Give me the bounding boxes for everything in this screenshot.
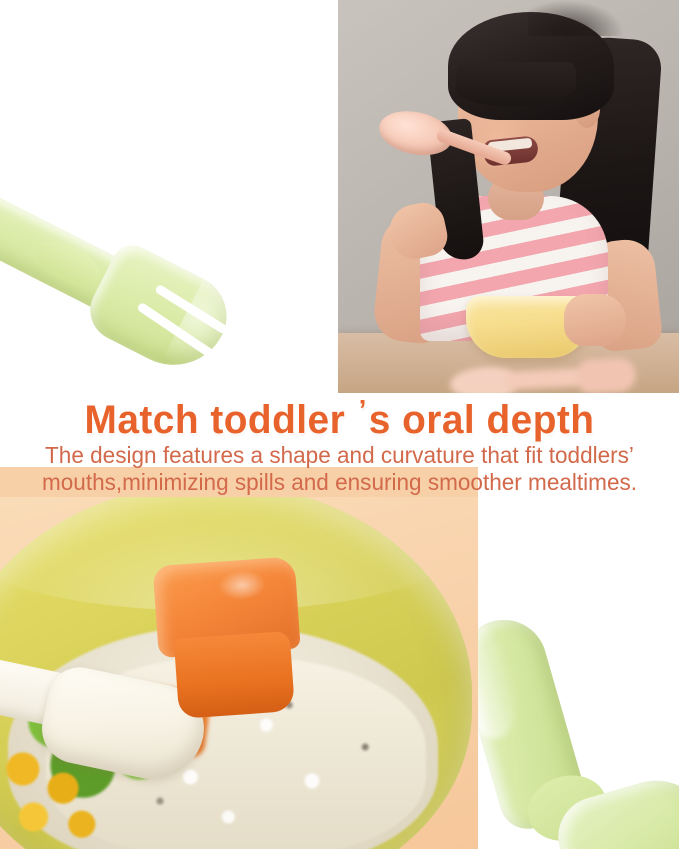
carrot-front-face <box>174 631 295 719</box>
headline: Match toddler’s oral depth <box>10 388 669 442</box>
product-feature-image: Match toddler’s oral depth The design fe… <box>0 0 679 849</box>
subtitle-line-2: mouths,minimizing spills and ensuring sm… <box>7 469 672 496</box>
subtitle-line-1: The design features a shape and curvatur… <box>7 442 672 469</box>
headline-apostrophe: ’ <box>345 394 369 425</box>
hair-wisps <box>528 0 624 36</box>
carrot-cube <box>147 556 318 727</box>
green-fork-icon <box>0 157 279 393</box>
subtitle: The design features a shape and curvatur… <box>7 442 672 496</box>
panel-toddler-eating-photo <box>338 0 679 393</box>
headline-part-1: Match toddler <box>85 398 346 442</box>
panel-bowl-of-food-photo <box>0 497 478 849</box>
panel-fork-product-shot <box>0 0 338 393</box>
panel-spoon-product-shot <box>478 497 679 849</box>
headline-part-2: s oral depth <box>369 398 595 442</box>
hair-bangs <box>456 62 576 106</box>
hand-right <box>564 294 626 346</box>
green-spoon-icon <box>478 575 679 849</box>
